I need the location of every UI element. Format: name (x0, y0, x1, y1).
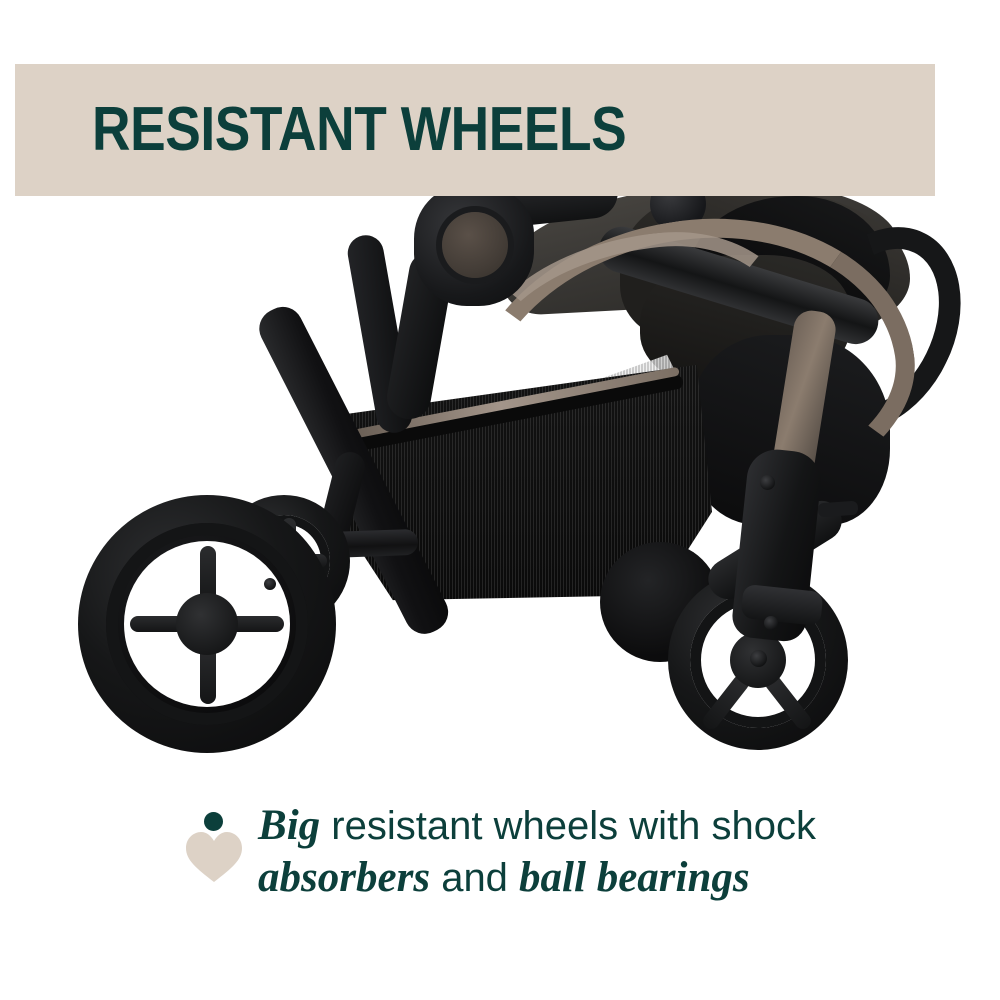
brake-lever (818, 501, 859, 518)
baby-person-icon-body (186, 832, 242, 882)
feature-caption: Big resistant wheels with shock absorber… (0, 800, 1000, 905)
banner-title: RESISTANT WHEELS (92, 99, 626, 161)
caption-text: Big resistant wheels with shock absorber… (258, 800, 816, 905)
hub-bronze-disc (442, 212, 508, 278)
caption-line-1: Big resistant wheels with shock (258, 800, 816, 852)
baby-person-icon-head (204, 812, 223, 831)
rear-wheel-screw (264, 578, 276, 590)
caption-l1-emphasis: Big (258, 802, 320, 849)
caption-line-2: absorbers and ball bearings (258, 852, 816, 904)
feature-banner: RESISTANT WHEELS (15, 64, 935, 196)
fork-screw-lower (764, 616, 778, 630)
baby-person-icon (184, 810, 244, 878)
rear-wheel-hub (176, 593, 238, 655)
caption-l2-emphasis-2: ball bearings (519, 854, 750, 901)
fork-screw-upper (760, 475, 775, 490)
caption-l2-emphasis-1: absorbers (258, 854, 430, 901)
product-image (0, 150, 1000, 790)
front-hub-screw (750, 650, 767, 667)
caption-l1-rest: resistant wheels with shock (320, 804, 816, 848)
caption-l2-conjunction: and (430, 856, 519, 900)
